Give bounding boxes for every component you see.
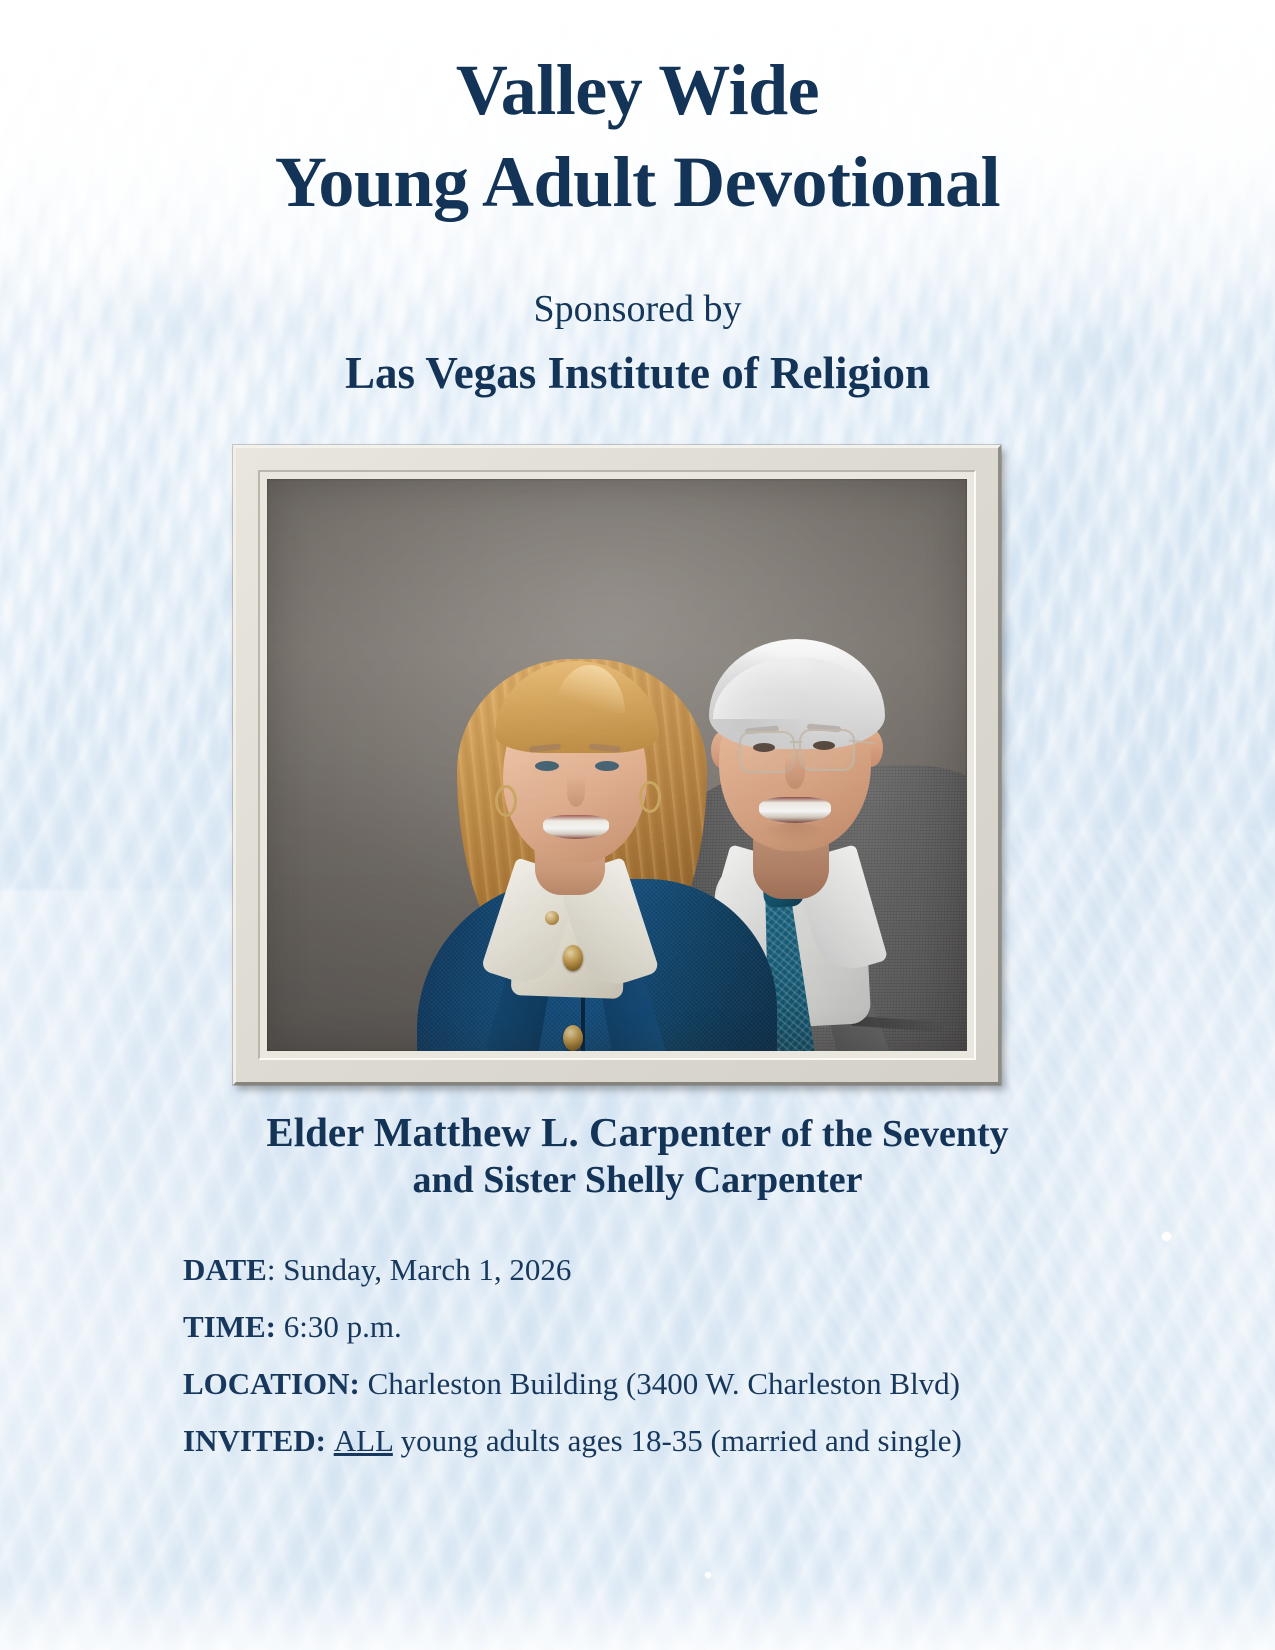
speaker-primary-name: Elder Matthew L. Carpenter <box>266 1109 771 1155</box>
flyer-page: Valley Wide Young Adult Devotional Spons… <box>0 0 1275 1650</box>
time-value: 6:30 p.m. <box>276 1309 402 1344</box>
flyer-content: Valley Wide Young Adult Devotional Spons… <box>0 0 1275 1650</box>
portrait-man-nose <box>785 755 805 789</box>
title-line-1: Valley Wide <box>0 44 1275 136</box>
sponsored-by-label: Sponsored by <box>0 287 1275 333</box>
photo-frame <box>233 445 1001 1085</box>
speaker-primary-title: of the Seventy <box>771 1113 1008 1155</box>
speaker-line-1: Elder Matthew L. Carpenter of the Sevent… <box>0 1107 1275 1157</box>
speaker-names: Elder Matthew L. Carpenter of the Sevent… <box>0 1107 1275 1204</box>
speaker-line-2: and Sister Shelly Carpenter <box>0 1157 1275 1203</box>
date-value: Sunday, March 1, 2026 <box>275 1252 571 1287</box>
portrait-man-eyeglass-right <box>799 729 855 771</box>
portrait-woman-eye-right <box>595 761 619 771</box>
portrait-man-eyeglass-bridge <box>790 741 802 743</box>
portrait-woman-lapel-pin <box>545 911 559 925</box>
portrait-woman-smile <box>543 815 609 839</box>
date-label: DATE <box>183 1252 267 1287</box>
location-value: Charleston Building (3400 W. Charleston … <box>360 1366 960 1401</box>
invited-emphasis: ALL <box>334 1423 393 1458</box>
detail-row-invited: INVITED: ALL young adults ages 18-35 (ma… <box>183 1425 962 1456</box>
portrait-woman-eye-left <box>535 761 559 771</box>
detail-row-time: TIME: 6:30 p.m. <box>183 1311 962 1342</box>
detail-row-date: DATE: Sunday, March 1, 2026 <box>183 1254 962 1285</box>
title-line-2: Young Adult Devotional <box>0 136 1275 228</box>
location-label: LOCATION: <box>183 1366 360 1401</box>
speaker-portrait-photo <box>267 479 967 1051</box>
time-label: TIME: <box>183 1309 276 1344</box>
portrait-woman-earring-left <box>495 785 517 817</box>
portrait-woman-jacket-button <box>563 1025 583 1051</box>
invited-label: INVITED: <box>183 1423 326 1458</box>
photo-mat <box>258 470 976 1060</box>
sponsor-organization: Las Vegas Institute of Religion <box>0 345 1275 401</box>
event-details: DATE: Sunday, March 1, 2026 TIME: 6:30 p… <box>183 1254 962 1456</box>
invited-value: young adults ages 18-35 (married and sin… <box>393 1423 962 1458</box>
portrait-woman-jacket-button <box>563 945 583 971</box>
portrait-man-smile <box>759 797 831 823</box>
detail-row-location: LOCATION: Charleston Building (3400 W. C… <box>183 1368 962 1399</box>
portrait-woman-earring-right <box>639 781 661 813</box>
portrait-man-chin <box>761 823 829 845</box>
page-title: Valley Wide Young Adult Devotional <box>0 44 1275 228</box>
portrait-woman-nose <box>567 775 585 807</box>
